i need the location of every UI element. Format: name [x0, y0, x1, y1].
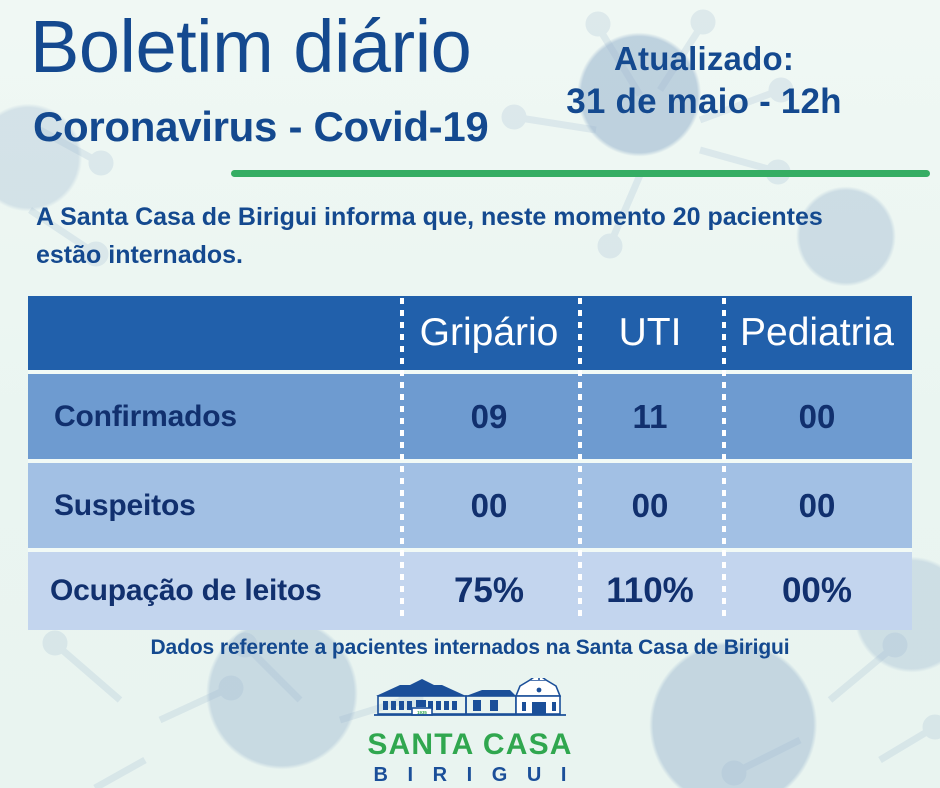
page-subtitle: Coronavirus - Covid-19 [33, 106, 488, 148]
cell-ocupacao-uti: 110% [578, 552, 722, 630]
cell-ocupacao-gripario: 75% [400, 552, 578, 630]
cell-suspeitos-uti: 00 [578, 463, 722, 548]
table-row: Confirmados 09 11 00 [28, 374, 912, 459]
cell-confirmados-uti: 11 [578, 374, 722, 459]
hospital-building-icon: 1935 [360, 678, 580, 726]
table-corner-cell [28, 296, 400, 370]
cell-ocupacao-pediatria: 00% [722, 552, 912, 630]
cell-confirmados-gripario: 09 [400, 374, 578, 459]
covid-bulletin-poster: Boletim diário Coronavirus - Covid-19 At… [0, 0, 940, 788]
update-block: Atualizado: 31 de maio - 12h [494, 38, 914, 125]
santa-casa-logo: 1935 SANTA CASA B I R I G U I [360, 678, 580, 787]
cell-confirmados-pediatria: 00 [722, 374, 912, 459]
footer-note: Dados referente a pacientes internados n… [0, 636, 940, 660]
logo-city: B I R I G U I [360, 763, 580, 787]
row-label-confirmados: Confirmados [28, 374, 400, 459]
column-header-gripario: Gripário [400, 296, 578, 370]
cell-suspeitos-pediatria: 00 [722, 463, 912, 548]
column-header-uti: UTI [578, 296, 722, 370]
poster-header: Boletim diário Coronavirus - Covid-19 At… [0, 0, 940, 190]
table-row: Ocupação de leitos 75% 110% 00% [28, 552, 912, 630]
row-label-ocupacao-de-leitos: Ocupação de leitos [28, 552, 400, 630]
update-value: 31 de maio - 12h [494, 79, 914, 125]
update-label: Atualizado: [494, 38, 914, 79]
column-header-pediatria: Pediatria [722, 296, 912, 370]
table-row: Suspeitos 00 00 00 [28, 463, 912, 548]
row-label-suspeitos: Suspeitos [28, 463, 400, 548]
table-header-row: Gripário UTI Pediatria [28, 296, 912, 370]
occupancy-table: Gripário UTI Pediatria Confirmados 09 11… [28, 296, 912, 630]
cell-suspeitos-gripario: 00 [400, 463, 578, 548]
header-divider-rule [231, 170, 930, 177]
page-title: Boletim diário [30, 10, 471, 84]
logo-name: SANTA CASA [360, 728, 580, 762]
logo-year-text: 1935 [417, 710, 427, 715]
intro-paragraph: A Santa Casa de Birigui informa que, nes… [36, 198, 876, 274]
